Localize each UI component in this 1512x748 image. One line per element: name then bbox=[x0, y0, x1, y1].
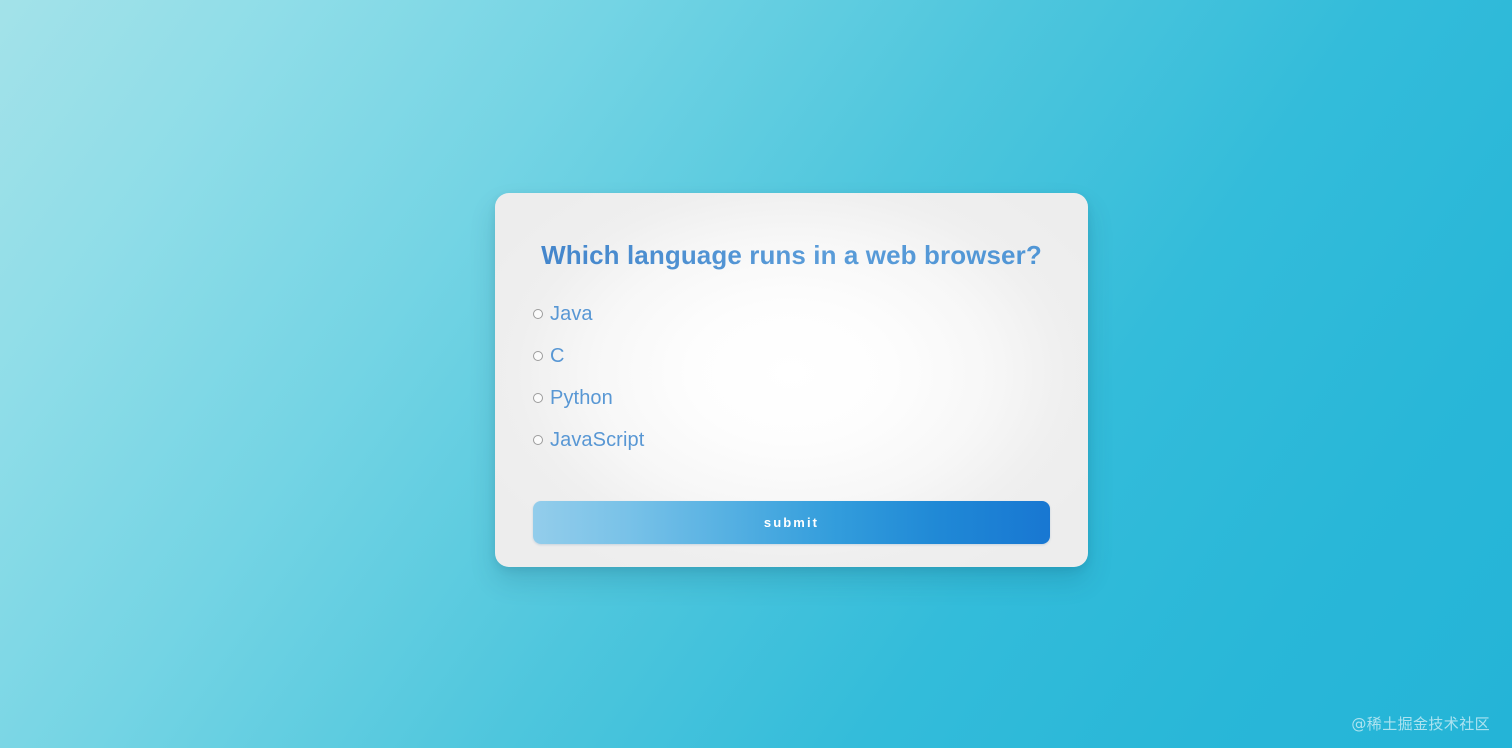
radio-unchecked-icon[interactable] bbox=[533, 351, 543, 361]
option-label-java[interactable]: Java bbox=[550, 304, 593, 324]
radio-unchecked-icon[interactable] bbox=[533, 309, 543, 319]
option-row-c[interactable]: C bbox=[533, 335, 1050, 377]
watermark-text: @稀土掘金技术社区 bbox=[1351, 713, 1490, 734]
submit-button[interactable]: submit bbox=[533, 501, 1050, 544]
quiz-card-inner: Which language runs in a web browser? Ja… bbox=[495, 193, 1088, 567]
radio-unchecked-icon[interactable] bbox=[533, 393, 543, 403]
option-row-javascript[interactable]: JavaScript bbox=[533, 419, 1050, 461]
option-label-python[interactable]: Python bbox=[550, 388, 613, 408]
option-label-javascript[interactable]: JavaScript bbox=[550, 430, 644, 450]
radio-unchecked-icon[interactable] bbox=[533, 435, 543, 445]
quiz-card: Which language runs in a web browser? Ja… bbox=[495, 193, 1088, 567]
submit-button-container: submit bbox=[533, 501, 1050, 567]
option-label-c[interactable]: C bbox=[550, 346, 565, 366]
option-row-java[interactable]: Java bbox=[533, 293, 1050, 335]
page-background: Which language runs in a web browser? Ja… bbox=[0, 0, 1512, 748]
question-title: Which language runs in a web browser? bbox=[533, 241, 1050, 271]
option-row-python[interactable]: Python bbox=[533, 377, 1050, 419]
answer-options-list: Java C Python JavaScript bbox=[533, 293, 1050, 501]
